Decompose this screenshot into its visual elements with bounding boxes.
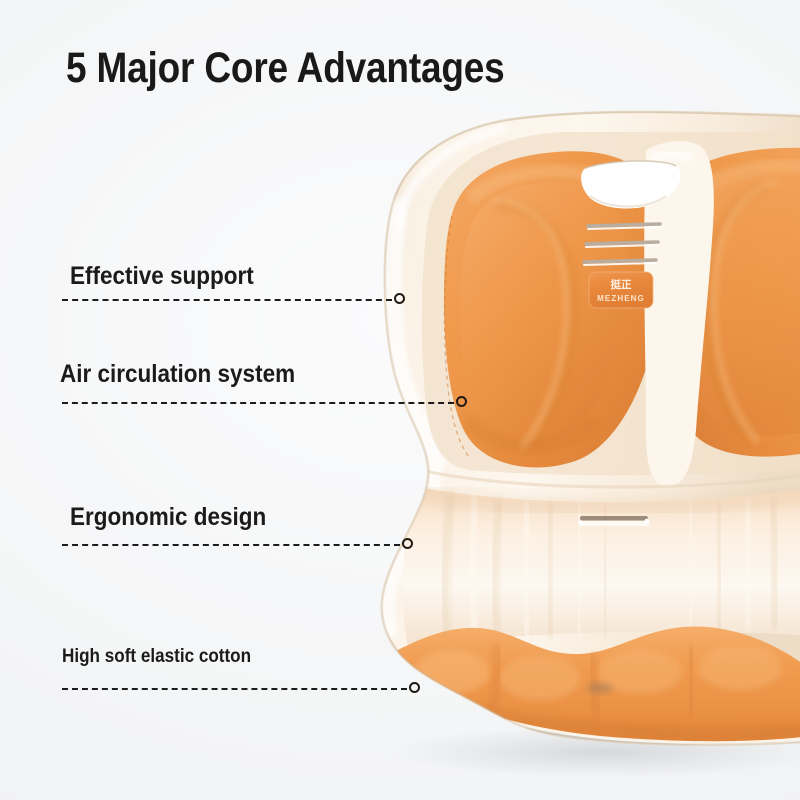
- leader-line-effective-support: [62, 299, 392, 301]
- leader-line-air-circulation-system: [62, 402, 454, 404]
- callout-label-air-circulation-system: Air circulation system: [60, 360, 295, 389]
- leader-line-high-soft-elastic-cotton: [62, 688, 407, 690]
- leader-line-ergonomic-design: [62, 544, 400, 546]
- badge-brand-cn: 挺正: [611, 278, 632, 291]
- product-illustration: 挺正 MEZHENG: [0, 0, 800, 800]
- control-slot: [579, 516, 650, 526]
- endpoint-marker-effective-support: [394, 293, 405, 304]
- endpoint-marker-air-circulation-system: [456, 396, 467, 407]
- callout-label-high-soft-elastic-cotton: High soft elastic cotton: [62, 646, 251, 668]
- endpoint-marker-high-soft-elastic-cotton: [409, 682, 420, 693]
- callout-label-effective-support: Effective support: [70, 262, 254, 291]
- endpoint-marker-ergonomic-design: [402, 538, 413, 549]
- page-title: 5 Major Core Advantages: [66, 44, 505, 93]
- ribbed-backrest: [403, 486, 800, 648]
- badge-brand-latin: MEZHENG: [597, 294, 645, 303]
- brand-badge: 挺正 MEZHENG: [589, 272, 653, 308]
- infographic-page: 挺正 MEZHENG: [0, 0, 800, 800]
- callout-label-ergonomic-design: Ergonomic design: [70, 503, 266, 532]
